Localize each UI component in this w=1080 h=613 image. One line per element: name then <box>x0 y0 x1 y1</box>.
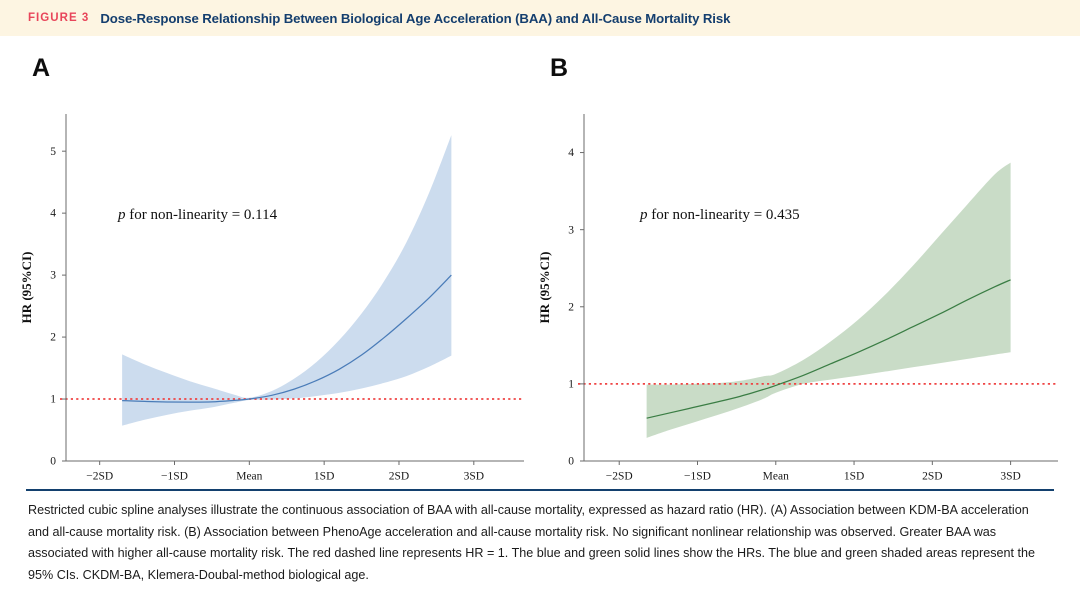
svg-text:2: 2 <box>50 332 56 344</box>
svg-text:−1SD: −1SD <box>161 471 188 483</box>
figure-number-label: FIGURE 3 <box>28 12 89 24</box>
caption-divider <box>26 489 1054 491</box>
plots-region: A 012345−2SD−1SDMean1SD2SD3SDKDM-BA acce… <box>0 36 1080 489</box>
panel-a: A 012345−2SD−1SDMean1SD2SD3SDKDM-BA acce… <box>0 36 540 489</box>
svg-text:0: 0 <box>50 456 56 468</box>
figure-container: FIGURE 3 Dose-Response Relationship Betw… <box>0 0 1080 613</box>
panel-b: B 01234−2SD−1SDMean1SD2SD3SDPhenoAge acc… <box>540 36 1080 489</box>
svg-text:−2SD: −2SD <box>86 471 113 483</box>
svg-text:−2SD: −2SD <box>606 471 633 483</box>
svg-text:3SD: 3SD <box>1000 471 1020 483</box>
svg-text:5: 5 <box>50 146 56 158</box>
figure-header: FIGURE 3 Dose-Response Relationship Betw… <box>0 0 1080 36</box>
svg-text:0: 0 <box>568 456 574 468</box>
svg-text:3SD: 3SD <box>464 471 484 483</box>
svg-text:3: 3 <box>50 270 56 282</box>
svg-text:3: 3 <box>568 224 574 236</box>
panel-a-chart: 012345−2SD−1SDMean1SD2SD3SDKDM-BA accele… <box>0 36 540 489</box>
svg-text:HR (95%CI): HR (95%CI) <box>19 252 34 324</box>
svg-text:1: 1 <box>568 378 574 390</box>
svg-text:Mean: Mean <box>236 471 262 483</box>
svg-text:1: 1 <box>50 394 56 406</box>
svg-text:2: 2 <box>568 301 574 313</box>
svg-text:1SD: 1SD <box>314 471 334 483</box>
svg-text:2SD: 2SD <box>389 471 409 483</box>
svg-text:−1SD: −1SD <box>684 471 711 483</box>
svg-text:HR (95%CI): HR (95%CI) <box>540 252 552 324</box>
svg-text:4: 4 <box>568 147 574 159</box>
svg-text:p for non-linearity = 0.114: p for non-linearity = 0.114 <box>117 207 278 223</box>
panel-b-chart: 01234−2SD−1SDMean1SD2SD3SDPhenoAge accel… <box>540 36 1080 489</box>
figure-caption: Restricted cubic spline analyses illustr… <box>28 500 1053 587</box>
svg-text:p for non-linearity = 0.435: p for non-linearity = 0.435 <box>639 207 800 223</box>
svg-text:2SD: 2SD <box>922 471 942 483</box>
svg-text:Mean: Mean <box>763 471 789 483</box>
figure-title: Dose-Response Relationship Between Biolo… <box>100 11 730 26</box>
svg-text:1SD: 1SD <box>844 471 864 483</box>
svg-text:4: 4 <box>50 208 56 220</box>
